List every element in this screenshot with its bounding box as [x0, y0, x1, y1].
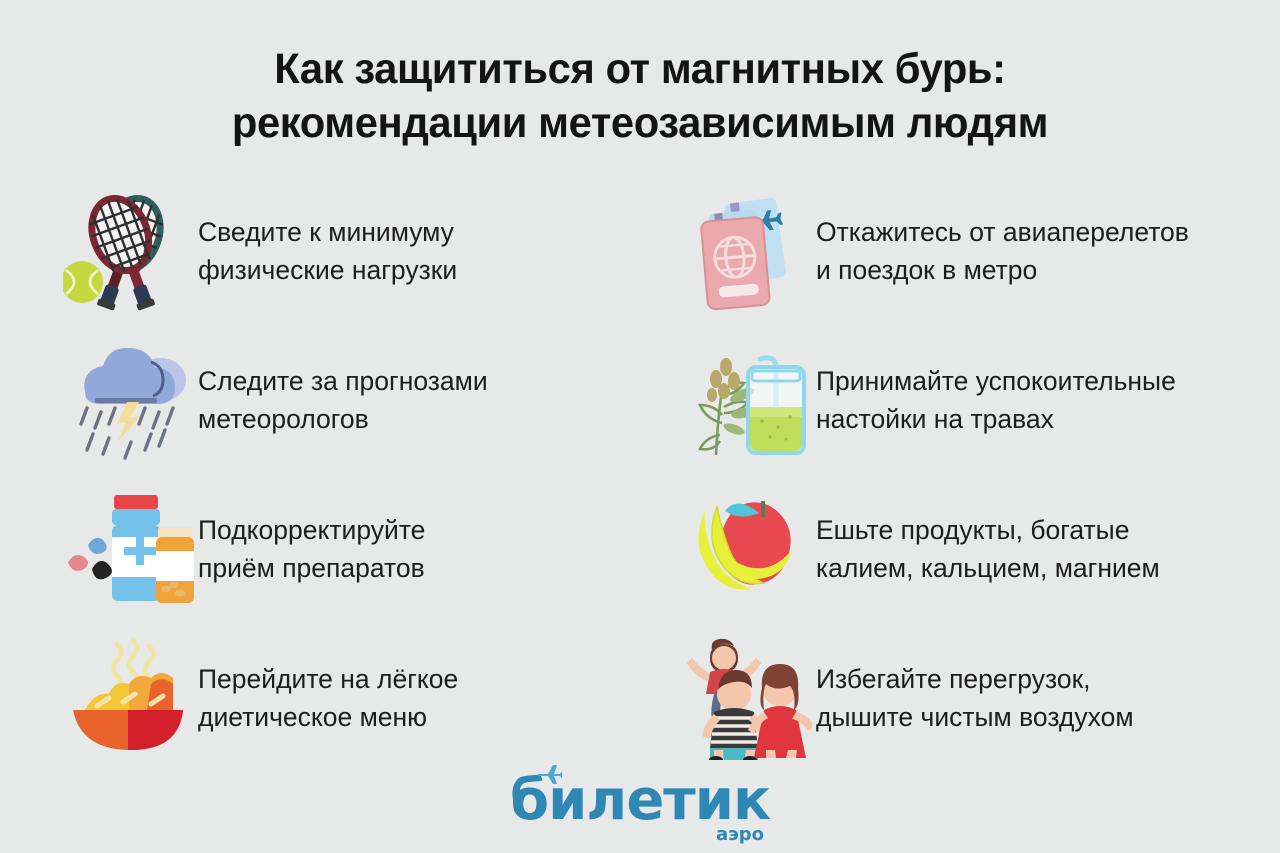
- tip-text: Принимайте успокоительные настойки на тр…: [816, 362, 1176, 438]
- tip-text: Перейдите на лёгкое диетическое меню: [198, 660, 458, 736]
- title-line-1: Как защититься от магнитных бурь:: [19, 42, 1261, 96]
- tip-avoid-air-travel-metro: Откажитесь от авиаперелетов и поездок в …: [676, 176, 1276, 325]
- tip-line-1: Перейдите на лёгкое: [198, 664, 458, 694]
- passport-boarding-pass-icon: [676, 186, 816, 316]
- tip-line-1: Откажитесь от авиаперелетов: [816, 217, 1189, 247]
- tip-line-2: диетическое меню: [198, 698, 458, 736]
- tip-text: Следите за прогнозами метеорологов: [198, 362, 488, 438]
- rain-cloud-lightning-icon: [58, 335, 198, 465]
- tip-eat-potassium-rich-food: Ешьте продукты, богатые калием, кальцием…: [676, 474, 1276, 623]
- herbal-drink-jar-icon: [676, 335, 816, 465]
- brand-logo[interactable]: билетик аэро: [0, 772, 1280, 845]
- children-family-icon: [676, 633, 816, 763]
- tip-line-1: Следите за прогнозами: [198, 366, 488, 396]
- tip-line-2: калием, кальцием, магнием: [816, 549, 1160, 587]
- page-title: Как защититься от магнитных бурь: рекоме…: [0, 0, 1280, 150]
- tip-take-herbal-sedatives: Принимайте успокоительные настойки на тр…: [676, 325, 1276, 474]
- tip-text: Ешьте продукты, богатые калием, кальцием…: [816, 511, 1160, 587]
- food-bowl-icon: [58, 633, 198, 763]
- tip-line-2: дышите чистым воздухом: [816, 698, 1134, 736]
- tip-avoid-overload-fresh-air: Избегайте перегрузок, дышите чистым возд…: [676, 623, 1276, 772]
- tip-line-2: и поездок в метро: [816, 251, 1189, 289]
- tip-text: Сведите к минимуму физические нагрузки: [198, 213, 457, 289]
- tennis-rackets-icon: [58, 186, 198, 316]
- tip-line-1: Ешьте продукты, богатые: [816, 515, 1129, 545]
- tip-line-2: настойки на травах: [816, 400, 1176, 438]
- tip-adjust-medication: Подкорректируйте приём препаратов: [58, 474, 676, 623]
- tip-line-1: Сведите к минимуму: [198, 217, 454, 247]
- banana-apple-icon: [676, 484, 816, 614]
- tip-follow-weather-forecast: Следите за прогнозами метеорологов: [58, 325, 676, 474]
- tip-reduce-physical-activity: Сведите к минимуму физические нагрузки: [58, 176, 676, 325]
- title-line-2: рекомендации метеозависимым людям: [19, 96, 1261, 150]
- plane-icon: [536, 762, 562, 784]
- tip-text: Откажитесь от авиаперелетов и поездок в …: [816, 213, 1189, 289]
- tip-line-2: физические нагрузки: [198, 251, 457, 289]
- tip-text: Избегайте перегрузок, дышите чистым возд…: [816, 660, 1134, 736]
- tip-line-2: приём препаратов: [198, 549, 425, 587]
- medicine-bottles-icon: [58, 484, 198, 614]
- tip-switch-to-light-diet: Перейдите на лёгкое диетическое меню: [58, 623, 676, 772]
- tip-line-1: Подкорректируйте: [198, 515, 425, 545]
- tips-grid: Сведите к минимуму физические нагрузки: [0, 176, 1280, 772]
- tip-line-1: Принимайте успокоительные: [816, 366, 1176, 396]
- tip-line-1: Избегайте перегрузок,: [816, 664, 1091, 694]
- tip-line-2: метеорологов: [198, 400, 488, 438]
- tip-text: Подкорректируйте приём препаратов: [198, 511, 425, 587]
